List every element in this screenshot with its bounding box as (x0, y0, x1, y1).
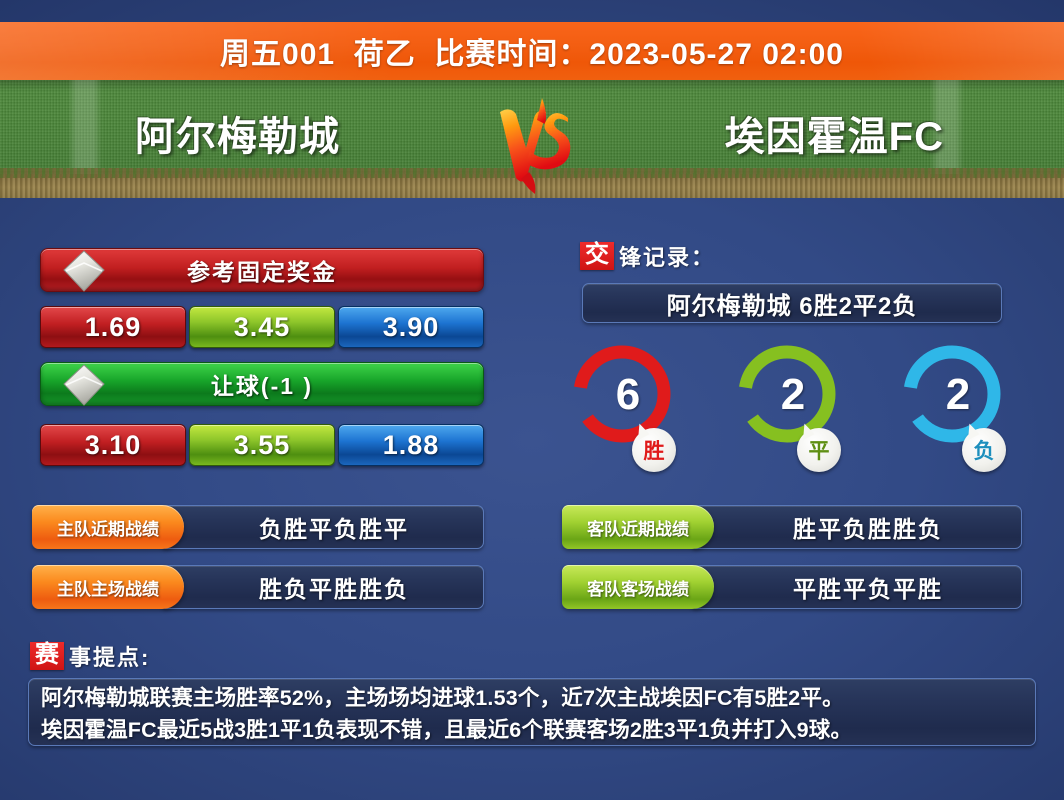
handicap-header: 让球(-1 ) (40, 362, 484, 406)
h2h-win-badge: 胜 (632, 428, 676, 472)
fixed-odds-header-label: 参考固定奖金 (187, 253, 337, 287)
away-recent-form-value: 胜平负胜胜负 (690, 505, 1022, 549)
home-home-form-tab[interactable]: 主队主场战绩 (32, 565, 184, 609)
diamond-icon (61, 248, 107, 294)
h2h-section-label: 锋记录： (619, 240, 715, 272)
tips-content-box: 阿尔梅勒城联赛主场胜率52%，主场场均进球1.53个，近7次主战埃因FC有5胜2… (28, 678, 1036, 746)
h2h-summary-bar: 阿尔梅勒城 6胜2平2负 (582, 283, 1002, 323)
tips-section-label: 事提点: (69, 640, 150, 672)
home-home-form-value: 胜负平胜胜负 (160, 565, 484, 609)
home-team-name: 阿尔梅勒城 (135, 104, 340, 162)
handicap-odd-draw[interactable]: 3.55 (189, 424, 335, 466)
away-away-form-tab[interactable]: 客队客场战绩 (562, 565, 714, 609)
h2h-ring-group: 6 胜 2 平 2 负 (572, 344, 1020, 474)
away-recent-form-row: 胜平负胜胜负 客队近期战绩 (562, 505, 1022, 549)
h2h-section-heading: 交 锋记录： (580, 240, 715, 272)
fixed-odd-home[interactable]: 1.69 (40, 306, 186, 348)
diamond-icon (61, 362, 107, 408)
page-title: 周五001 荷乙 比赛时间：2023-05-27 02:00 (220, 29, 844, 73)
home-recent-form-row: 负胜平负胜平 主队近期战绩 (32, 505, 484, 549)
home-recent-form-value: 负胜平负胜平 (160, 505, 484, 549)
handicap-header-label: 让球(-1 ) (211, 367, 313, 401)
fixed-odd-away[interactable]: 3.90 (338, 306, 484, 348)
home-home-form-row: 胜负平胜胜负 主队主场战绩 (32, 565, 484, 609)
tips-chip: 赛 (30, 642, 64, 670)
h2h-draw-badge: 平 (797, 428, 841, 472)
match-preview-graphic: 周五001 荷乙 比赛时间：2023-05-27 02:00 阿尔梅勒城 埃因霍… (0, 0, 1064, 800)
handicap-value: -1 (271, 373, 295, 399)
fixed-odds-header: 参考固定奖金 (40, 248, 484, 292)
handicap-suffix: ) (295, 373, 313, 399)
home-recent-form-tab[interactable]: 主队近期战绩 (32, 505, 184, 549)
vs-icon (486, 88, 582, 196)
handicap-prefix: 让球( (211, 373, 271, 399)
h2h-loss-badge: 负 (962, 428, 1006, 472)
tips-section-heading: 赛 事提点: (30, 640, 150, 672)
h2h-ring-draw: 2 平 (737, 344, 837, 472)
away-away-form-value: 平胜平负平胜 (690, 565, 1022, 609)
handicap-odd-away[interactable]: 1.88 (338, 424, 484, 466)
away-away-form-row: 平胜平负平胜 客队客场战绩 (562, 565, 1022, 609)
h2h-chip: 交 (580, 242, 614, 270)
tips-line: 埃因霍温FC最近5战3胜1平1负表现不错，且最近6个联赛客场2胜3平1负并打入9… (41, 714, 1023, 746)
handicap-odd-home[interactable]: 3.10 (40, 424, 186, 466)
away-recent-form-tab[interactable]: 客队近期战绩 (562, 505, 714, 549)
tips-line: 阿尔梅勒城联赛主场胜率52%，主场场均进球1.53个，近7次主战埃因FC有5胜2… (41, 682, 1023, 714)
h2h-summary-text: 阿尔梅勒城 6胜2平2负 (667, 286, 918, 321)
away-team-name: 埃因霍温FC (725, 104, 944, 162)
h2h-ring-win: 6 胜 (572, 344, 672, 472)
match-header-bar: 周五001 荷乙 比赛时间：2023-05-27 02:00 (0, 22, 1064, 80)
h2h-ring-loss: 2 负 (902, 344, 1002, 472)
fixed-odd-draw[interactable]: 3.45 (189, 306, 335, 348)
